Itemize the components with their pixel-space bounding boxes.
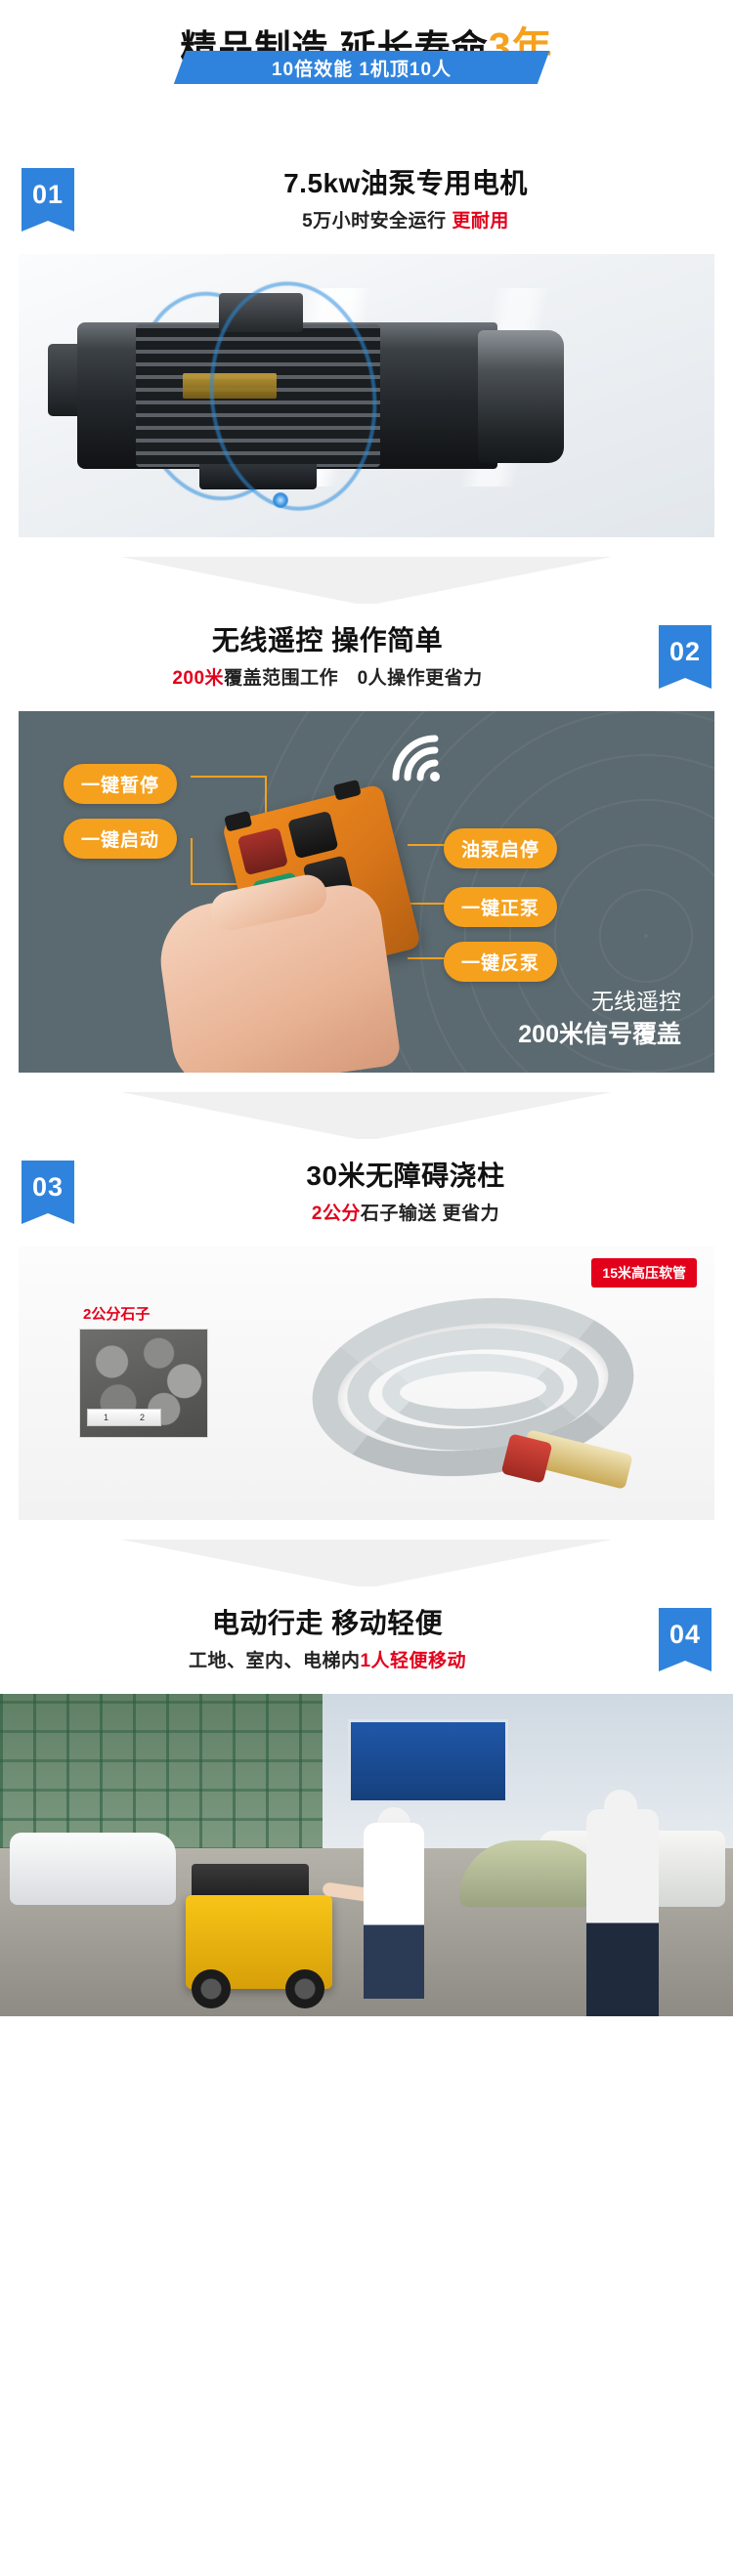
hero-header: 精品制造 延长寿命3年 10倍效能 1机顶10人 [0, 0, 733, 147]
motor-led-glow [273, 492, 288, 508]
divider-chevron [0, 557, 733, 604]
divider-chevron [0, 1540, 733, 1586]
remote-caption-line1: 无线遥控 [518, 985, 681, 1018]
remote-caption: 无线遥控 200米信号覆盖 [518, 985, 681, 1051]
section-03-sub-plain: 石子输送 更省力 [361, 1204, 499, 1224]
section-01-head: 01 7.5kw油泵专用电机 5万小时安全运行 更耐用 [0, 147, 733, 254]
callout-leader-line [408, 957, 447, 959]
product-detail-page: 精品制造 延长寿命3年 10倍效能 1机顶10人 01 7.5kw油泵专用电机 … [0, 0, 733, 2016]
section-03: 03 30米无障碍浇柱 2公分石子输送 更省力 15米高压软管 2公分石子 1 … [0, 1139, 733, 1540]
callout-start: 一键启动 [64, 819, 177, 859]
worker-right [586, 1809, 659, 2016]
key-stop [237, 827, 288, 875]
parked-van-left [10, 1833, 176, 1905]
section-04-sub-accent: 1人轻便移动 [360, 1651, 466, 1671]
label-stone-size: 2公分石子 [83, 1303, 150, 1324]
section-01-sub-plain: 5万小时安全运行 [302, 211, 452, 232]
section-03-sub-accent: 2公分 [312, 1204, 361, 1224]
section-02-texts: 无线遥控 操作简单 200米覆盖范围工作 0人操作更省力 [0, 621, 733, 694]
section-02-title: 无线遥控 操作简单 [39, 621, 616, 660]
tag-hose-length: 15米高压软管 [591, 1258, 697, 1288]
callout-leader-line [408, 903, 447, 905]
ruler-tick-1: 1 [104, 1413, 108, 1422]
callout-pump-reverse: 一键反泵 [444, 942, 557, 982]
key-pump-toggle [287, 811, 338, 859]
site-notice-board [348, 1719, 508, 1803]
machine-wheel [285, 1969, 324, 2008]
callout-pause: 一键暂停 [64, 764, 177, 804]
section-03-head: 03 30米无障碍浇柱 2公分石子输送 更省力 [0, 1139, 733, 1246]
section-02-subtitle: 200米覆盖范围工作 0人操作更省力 [39, 664, 616, 694]
section-04-title: 电动行走 移动轻便 [39, 1604, 616, 1643]
section-01-subtitle: 5万小时安全运行 更耐用 [117, 207, 694, 236]
wifi-signal-icon [388, 733, 456, 783]
section-02-head: 02 无线遥控 操作简单 200米覆盖范围工作 0人操作更省力 [0, 604, 733, 711]
section-04-sub-plain: 工地、室内、电梯内 [189, 1651, 361, 1671]
section-04-head: 04 电动行走 移动轻便 工地、室内、电梯内1人轻便移动 [0, 1586, 733, 1694]
machine-wheel [192, 1969, 231, 2008]
ruler-scale: 1 2 [87, 1409, 161, 1426]
hero-banner-label: 10倍效能 1机顶10人 [180, 51, 543, 84]
section-03-subtitle: 2公分石子输送 更省力 [117, 1200, 694, 1229]
hose-coupler-red [501, 1433, 553, 1483]
motor-end-cap [478, 330, 564, 463]
remote-caption-line2: 200米信号覆盖 [518, 1018, 681, 1051]
section-01: 01 7.5kw油泵专用电机 5万小时安全运行 更耐用 [0, 147, 733, 557]
motor-photo [19, 254, 714, 537]
section-03-texts: 30米无障碍浇柱 2公分石子输送 更省力 [0, 1157, 733, 1229]
section-01-texts: 7.5kw油泵专用电机 5万小时安全运行 更耐用 [0, 164, 733, 236]
divider-chevron [0, 1092, 733, 1139]
section-03-title: 30米无障碍浇柱 [117, 1157, 694, 1196]
callout-pump-forward: 一键正泵 [444, 887, 557, 927]
scaffolding-net [0, 1694, 323, 1850]
section-04-texts: 电动行走 移动轻便 工地、室内、电梯内1人轻便移动 [0, 1604, 733, 1676]
section-01-title: 7.5kw油泵专用电机 [117, 164, 694, 203]
remote-control-photo: 一键暂停 一键启动 油泵启停 一键正泵 一键反泵 无线遥控 200米信号覆盖 [19, 711, 714, 1073]
hose-photo: 15米高压软管 2公分石子 1 2 [19, 1246, 714, 1520]
callout-leader-line [408, 844, 447, 846]
section-02: 02 无线遥控 操作简单 200米覆盖范围工作 0人操作更省力 [0, 604, 733, 1092]
section-04: 04 电动行走 移动轻便 工地、室内、电梯内1人轻便移动 [0, 1586, 733, 2016]
callout-pump-toggle: 油泵启停 [444, 828, 557, 868]
jobsite-photo [0, 1694, 733, 2016]
section-02-sub-plain: 覆盖范围工作 0人操作更省力 [224, 668, 483, 689]
section-01-sub-accent: 更耐用 [452, 211, 509, 232]
section-02-sub-accent: 200米 [172, 668, 224, 689]
ruler-tick-2: 2 [140, 1413, 145, 1422]
worker-front [364, 1823, 424, 1999]
section-04-subtitle: 工地、室内、电梯内1人轻便移动 [39, 1647, 616, 1676]
antenna-screw-icon [333, 780, 362, 801]
